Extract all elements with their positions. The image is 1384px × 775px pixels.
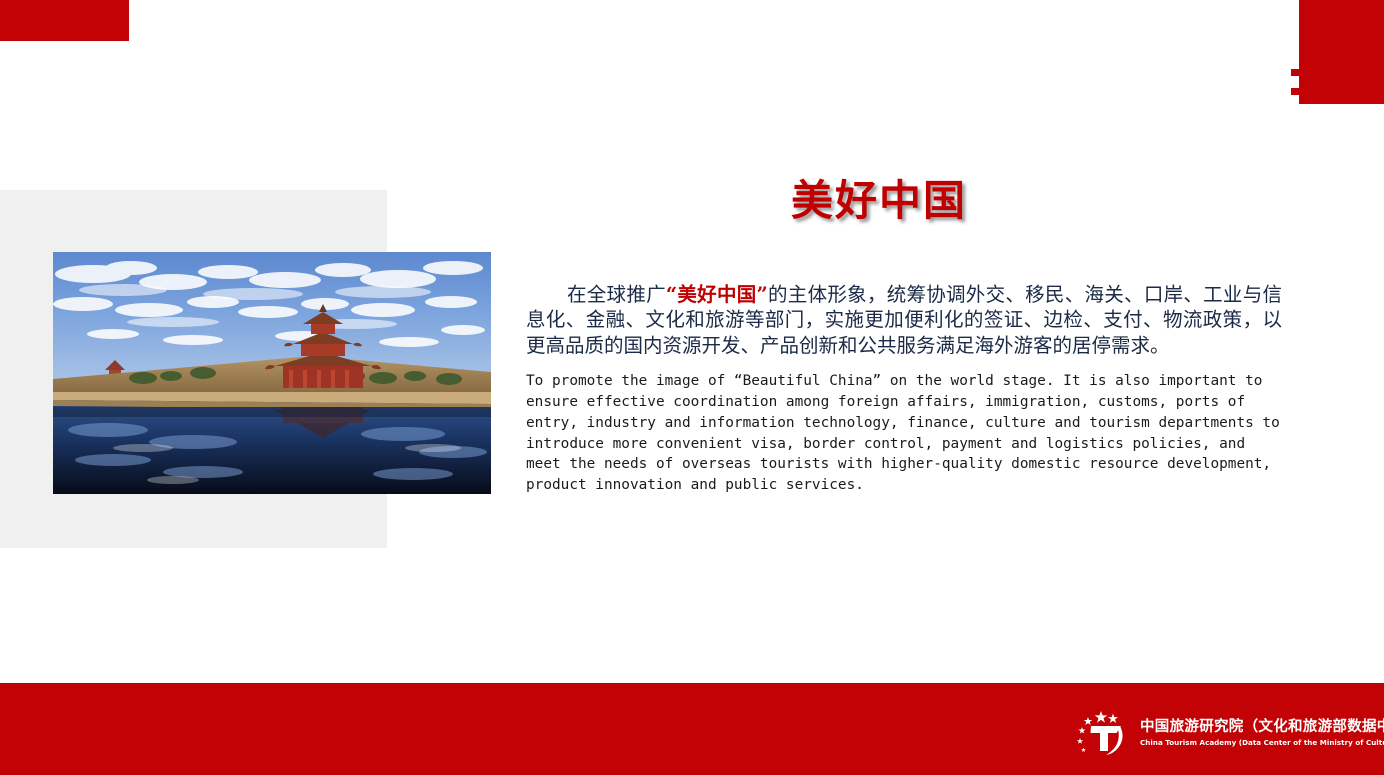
top-right-tick-mark-2: [1291, 88, 1299, 95]
cn-lead: 在全球推广: [567, 283, 666, 306]
cn-quote-close: ”: [757, 283, 768, 306]
footer-logo: 中国旅游研究院（文化和旅游部数据中心） China Tourism Academ…: [1073, 709, 1335, 757]
logo-title-cn: 中国旅游研究院（文化和旅游部数据中心）: [1140, 719, 1384, 735]
china-tourism-academy-emblem-icon: [1073, 710, 1131, 756]
cn-highlight: 美好中国: [677, 283, 756, 306]
top-right-accent-block: [1299, 0, 1384, 104]
page-title: 美好中国: [526, 175, 1232, 227]
logo-text-block: 中国旅游研究院（文化和旅游部数据中心） China Tourism Academ…: [1140, 719, 1384, 746]
top-left-accent-block: [0, 0, 129, 41]
chinese-paragraph: 在全球推广“美好中国”的主体形象，统筹协调外交、移民、海关、口岸、工业与信息化、…: [526, 282, 1282, 359]
forbidden-city-photo: [53, 252, 491, 494]
top-right-tick-mark-1: [1291, 69, 1299, 76]
english-paragraph: To promote the image of “Beautiful China…: [526, 371, 1286, 495]
logo-title-en: China Tourism Academy (Data Center of th…: [1140, 739, 1384, 746]
cn-quote-open: “: [666, 283, 677, 306]
